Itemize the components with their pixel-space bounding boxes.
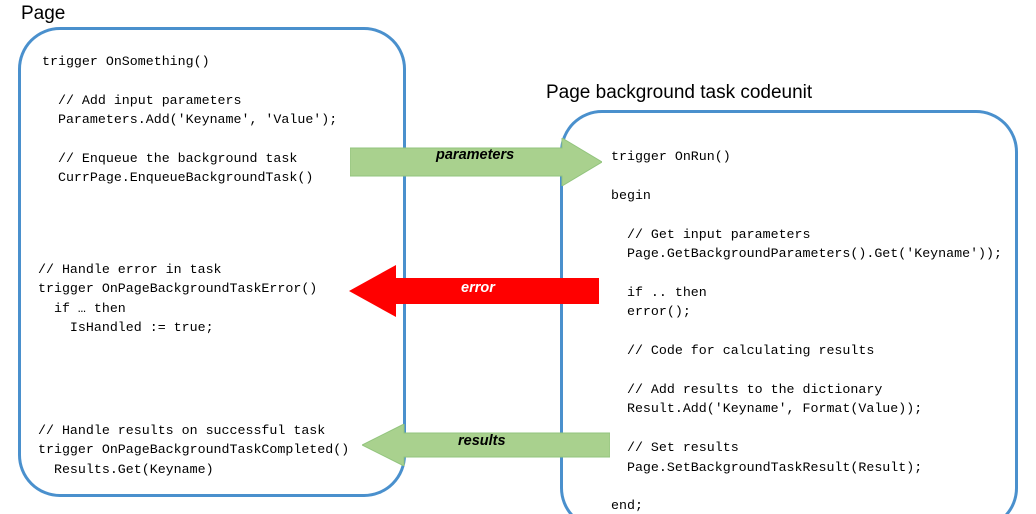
parameters-arrow-label: parameters — [436, 148, 514, 163]
page-code-trigger-oncompleted: // Handle results on successful task tri… — [38, 421, 349, 479]
codeunit-panel-title: Page background task codeunit — [546, 83, 812, 102]
results-arrow-label: results — [458, 434, 506, 449]
page-code-trigger-onsomething: trigger OnSomething() // Add input param… — [42, 52, 337, 188]
page-code-trigger-onerror: // Handle error in task trigger OnPageBa… — [38, 260, 317, 338]
error-arrow-label: error — [461, 281, 495, 296]
diagram-canvas: Page Page background task codeunit trigg… — [0, 0, 1036, 514]
codeunit-code-onrun: trigger OnRun() begin // Get input param… — [611, 147, 1002, 514]
page-panel-title: Page — [21, 4, 65, 23]
